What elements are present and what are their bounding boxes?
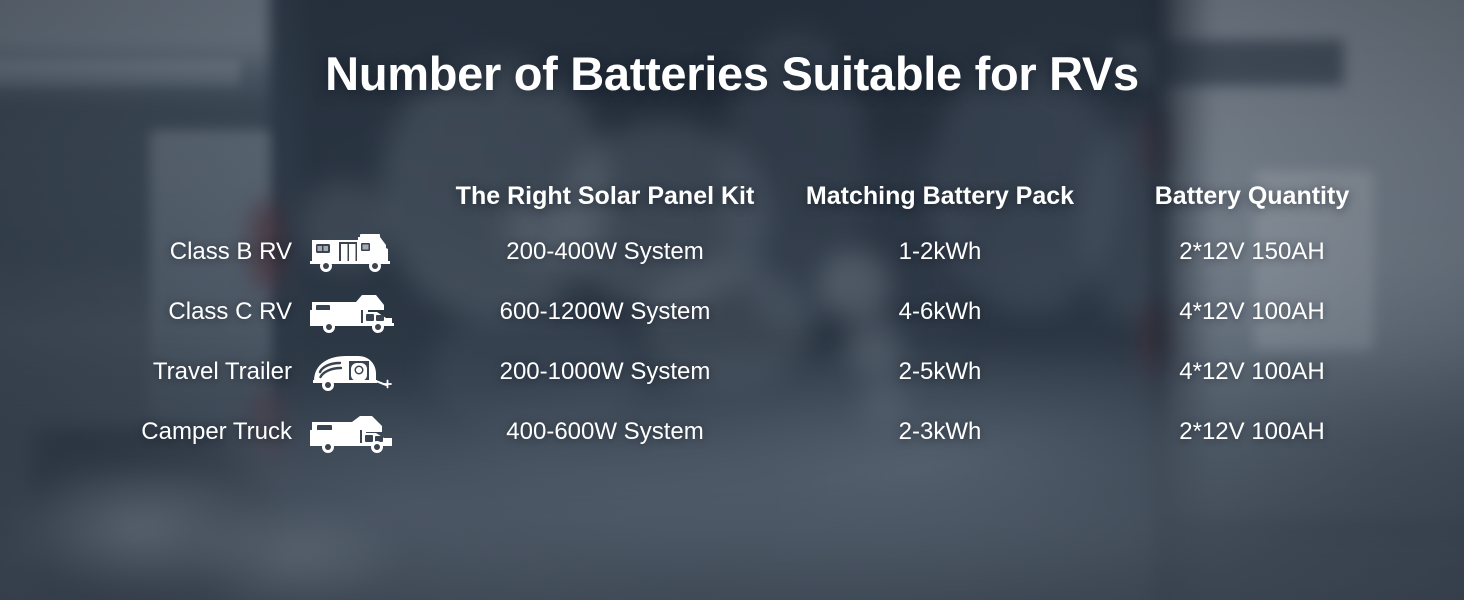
class-c-rv-icon bbox=[300, 290, 410, 334]
row-battery-quantity: 2*12V 150AH bbox=[1080, 238, 1464, 266]
table-row: Travel Trailer bbox=[0, 342, 1464, 402]
row-label: Camper Truck bbox=[0, 418, 300, 446]
row-label: Class C RV bbox=[0, 298, 300, 326]
infographic-banner: Number of Batteries Suitable for RVs The… bbox=[0, 0, 1464, 600]
camper-truck-icon bbox=[300, 410, 410, 454]
row-label: Class B RV bbox=[0, 238, 300, 266]
header-solar-panel-kit: The Right Solar Panel Kit bbox=[410, 182, 800, 211]
row-solar-panel-kit: 400-600W System bbox=[410, 418, 800, 446]
page-title: Number of Batteries Suitable for RVs bbox=[0, 46, 1464, 101]
row-solar-panel-kit: 200-1000W System bbox=[410, 358, 800, 386]
header-battery-quantity: Battery Quantity bbox=[1080, 182, 1464, 211]
class-b-rv-icon bbox=[300, 230, 410, 274]
table-header-row: The Right Solar Panel Kit Matching Batte… bbox=[0, 170, 1464, 222]
table-row: Camper Truck bbox=[0, 402, 1464, 462]
row-battery-quantity: 4*12V 100AH bbox=[1080, 298, 1464, 326]
row-solar-panel-kit: 600-1200W System bbox=[410, 298, 800, 326]
row-battery-quantity: 2*12V 100AH bbox=[1080, 418, 1464, 446]
row-solar-panel-kit: 200-400W System bbox=[410, 238, 800, 266]
table-row: Class B RV bbox=[0, 222, 1464, 282]
row-battery-pack: 1-2kWh bbox=[800, 238, 1080, 266]
row-battery-pack: 2-5kWh bbox=[800, 358, 1080, 386]
travel-trailer-icon bbox=[300, 350, 410, 394]
row-label: Travel Trailer bbox=[0, 358, 300, 386]
banner-content: Number of Batteries Suitable for RVs The… bbox=[0, 0, 1464, 600]
battery-comparison-table: The Right Solar Panel Kit Matching Batte… bbox=[0, 170, 1464, 462]
row-battery-quantity: 4*12V 100AH bbox=[1080, 358, 1464, 386]
table-row: Class C RV bbox=[0, 282, 1464, 342]
header-battery-pack: Matching Battery Pack bbox=[800, 182, 1080, 211]
row-battery-pack: 4-6kWh bbox=[800, 298, 1080, 326]
row-battery-pack: 2-3kWh bbox=[800, 418, 1080, 446]
